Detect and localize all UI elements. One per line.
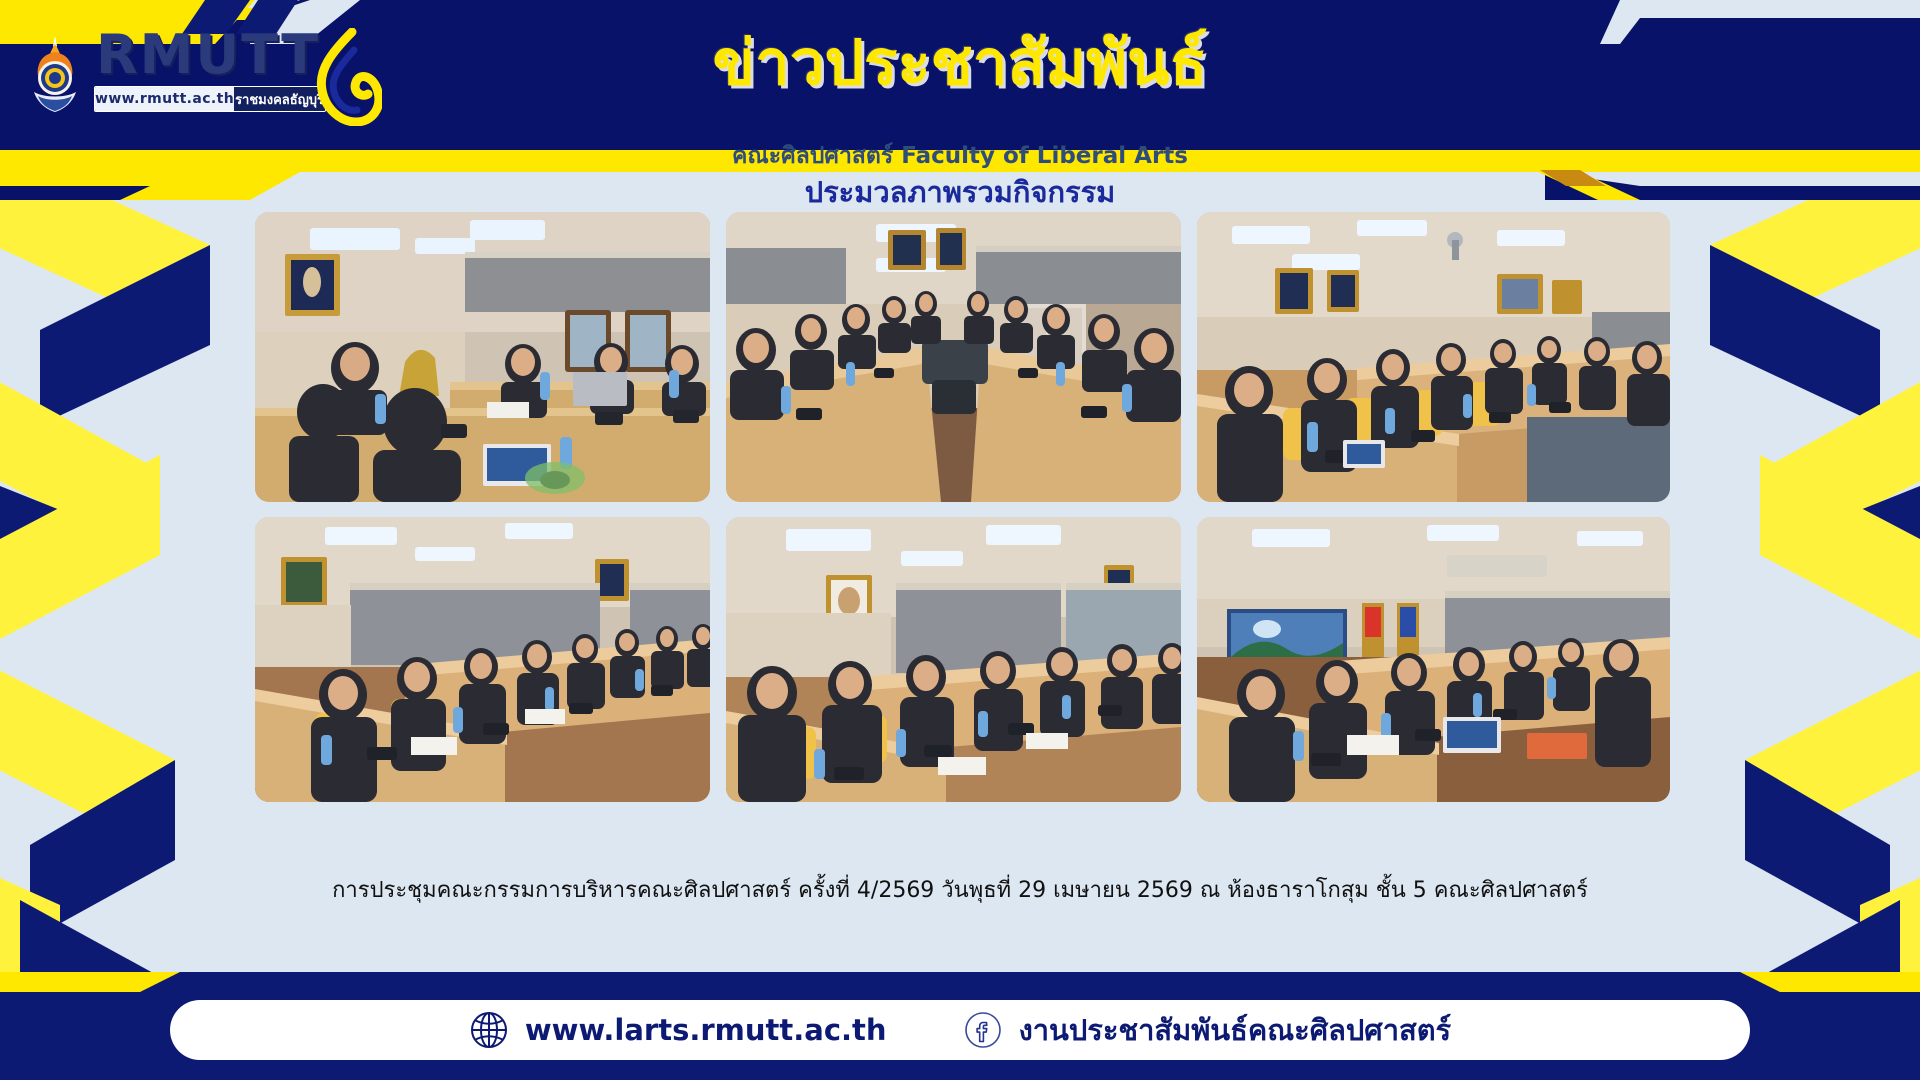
photo-gallery bbox=[255, 212, 1670, 802]
gallery-row-1 bbox=[255, 212, 1670, 502]
footer-facebook-text: งานประชาสัมพันธ์คณะศิลปศาสตร์ bbox=[1019, 1007, 1452, 1053]
facebook-icon bbox=[963, 1010, 1003, 1050]
gallery-row-2 bbox=[255, 517, 1670, 807]
footer-website-text: www.larts.rmutt.ac.th bbox=[525, 1013, 887, 1047]
page-title: ข่าวประชาสัมพันธ์ bbox=[0, 30, 1920, 95]
photo-meeting-5[interactable] bbox=[726, 517, 1181, 802]
photo-meeting-4[interactable] bbox=[255, 517, 710, 802]
photo-meeting-2[interactable] bbox=[726, 212, 1181, 502]
photo-meeting-3[interactable] bbox=[1197, 212, 1670, 502]
photo-meeting-6[interactable] bbox=[1197, 517, 1670, 802]
section-subtitle: ประมวลภาพรวมกิจกรรม bbox=[0, 169, 1920, 215]
event-caption: การประชุมคณะกรรมการบริหารคณะศิลปศาสตร์ ค… bbox=[0, 872, 1920, 907]
photo-meeting-1[interactable] bbox=[255, 212, 710, 502]
footer-website[interactable]: www.larts.rmutt.ac.th bbox=[469, 1010, 887, 1050]
footer-facebook[interactable]: งานประชาสัมพันธ์คณะศิลปศาสตร์ bbox=[963, 1007, 1452, 1053]
globe-icon bbox=[469, 1010, 509, 1050]
poster-canvas: RMUTT www.rmutt.ac.th ราชมงคลธัญบุรี ข่า… bbox=[0, 0, 1920, 1080]
footer-contact-bar: www.larts.rmutt.ac.th งานประชาสัมพันธ์คณ… bbox=[170, 1000, 1750, 1060]
